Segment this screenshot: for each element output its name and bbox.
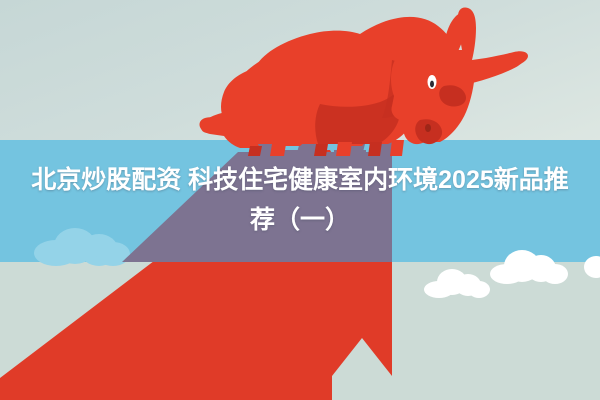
banner-image: 北京炒股配资 科技住宅健康室内环境2025新品推 荐（一） [0, 0, 600, 400]
headline-text: 北京炒股配资 科技住宅健康室内环境2025新品推 荐（一） [0, 160, 600, 240]
headline-line-1: 北京炒股配资 科技住宅健康室内环境2025新品推 [31, 166, 569, 194]
headline-line-2: 荐（一） [0, 200, 600, 240]
